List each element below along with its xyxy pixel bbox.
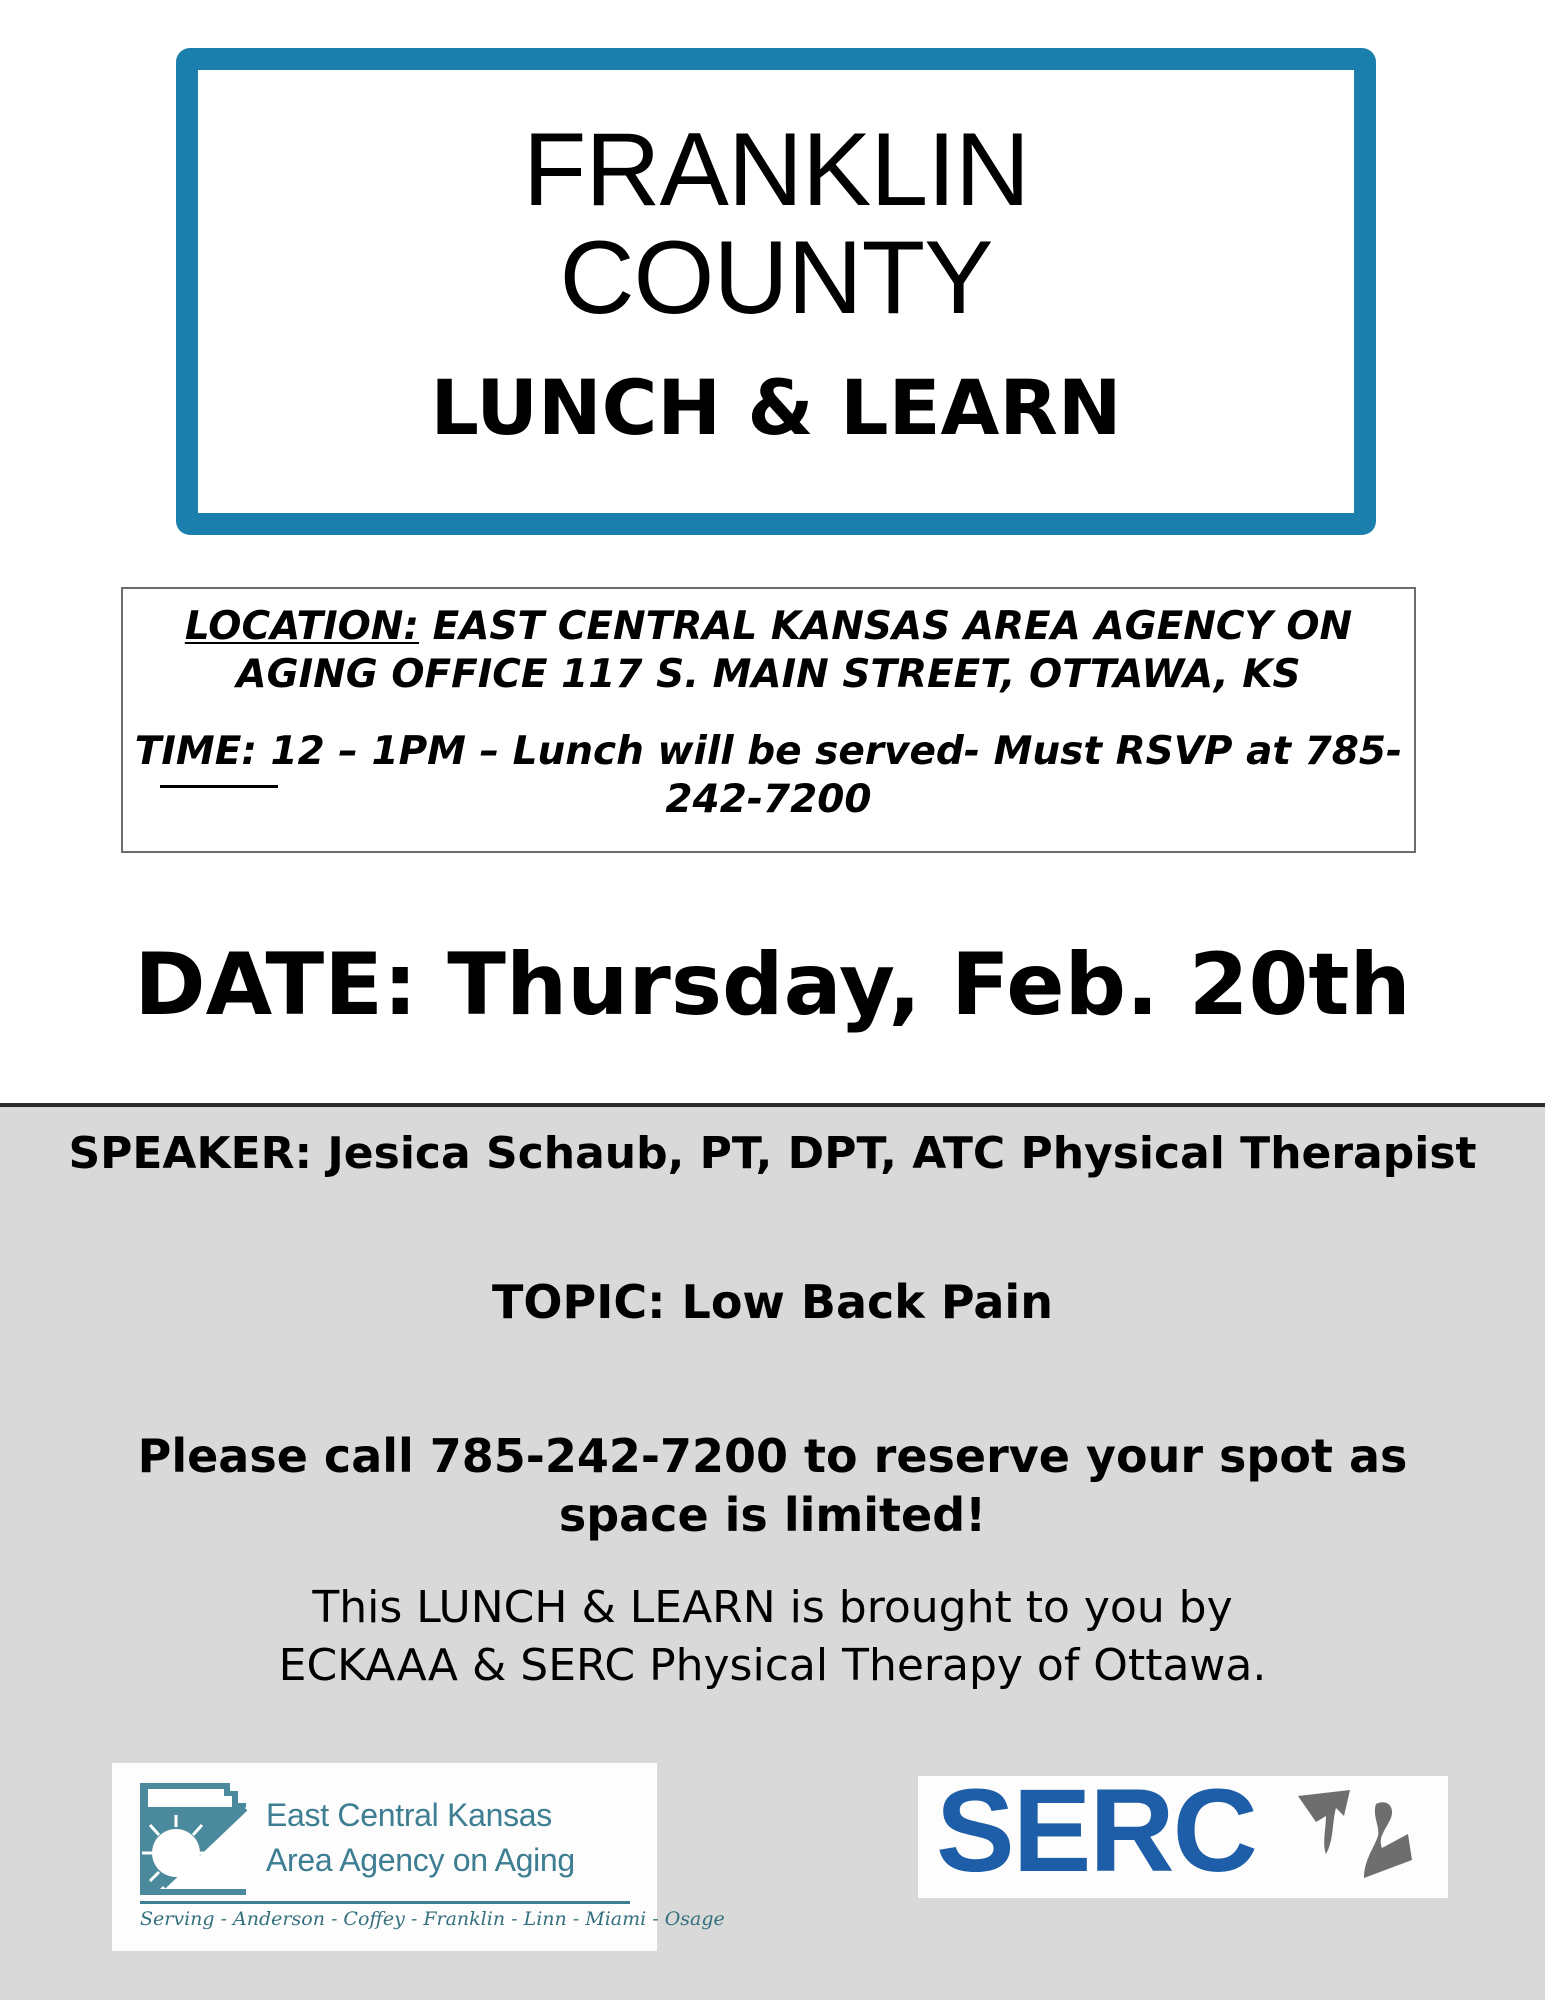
sponsors-line-2: ECKAAA & SERC Physical Therapy of Ottawa… (50, 1637, 1495, 1695)
sponsors-block: This LUNCH & LEARN is brought to you by … (50, 1579, 1495, 1695)
eckaaa-name-line-1: East Central Kansas (266, 1793, 626, 1838)
page-title-line-1: FRANKLIN (523, 120, 1029, 222)
event-date: DATE: Thursday, Feb. 20th (0, 940, 1545, 1030)
sponsors-line-1: This LUNCH & LEARN is brought to you by (50, 1579, 1495, 1637)
eckaaa-logo: East Central Kansas Area Agency on Aging… (112, 1763, 657, 1951)
eckaaa-name: East Central Kansas Area Agency on Aging (266, 1793, 626, 1884)
eckaaa-logo-inner: East Central Kansas Area Agency on Aging… (134, 1773, 634, 1941)
serc-wordmark: SERC (936, 1772, 1256, 1890)
time-underline-rule (160, 785, 278, 788)
reserve-block: Please call 785-242-7200 to reserve your… (50, 1427, 1495, 1545)
reserve-line-2: space is limited! (50, 1486, 1495, 1545)
reserve-line-1: Please call 785-242-7200 to reserve your… (50, 1427, 1495, 1486)
eckaaa-divider (140, 1901, 630, 1904)
serc-swoosh-icon (1292, 1782, 1442, 1892)
kansas-sunrise-icon (134, 1777, 254, 1905)
flyer-page: FRANKLIN COUNTY LUNCH & LEARN LOCATION: … (0, 0, 1545, 2000)
serc-logo: SERC (918, 1776, 1448, 1898)
time-paragraph: TIME: 12 – 1PM – Lunch will be served- M… (133, 728, 1404, 823)
location-label: LOCATION: (185, 604, 419, 649)
topic-line: TOPIC: Low Back Pain (0, 1275, 1545, 1330)
eckaaa-name-line-2: Area Agency on Aging (266, 1838, 626, 1883)
page-title-line-2: COUNTY (559, 228, 992, 330)
eckaaa-serving-counties: Serving - Anderson - Coffey - Franklin -… (140, 1908, 632, 1930)
header-title-box: FRANKLIN COUNTY LUNCH & LEARN (176, 48, 1376, 535)
page-subtitle: LUNCH & LEARN (431, 370, 1122, 446)
location-time-box: LOCATION: EAST CENTRAL KANSAS AREA AGENC… (121, 587, 1416, 853)
speaker-line: SPEAKER: Jesica Schaub, PT, DPT, ATC Phy… (0, 1128, 1545, 1181)
location-paragraph: LOCATION: EAST CENTRAL KANSAS AREA AGENC… (133, 603, 1404, 698)
